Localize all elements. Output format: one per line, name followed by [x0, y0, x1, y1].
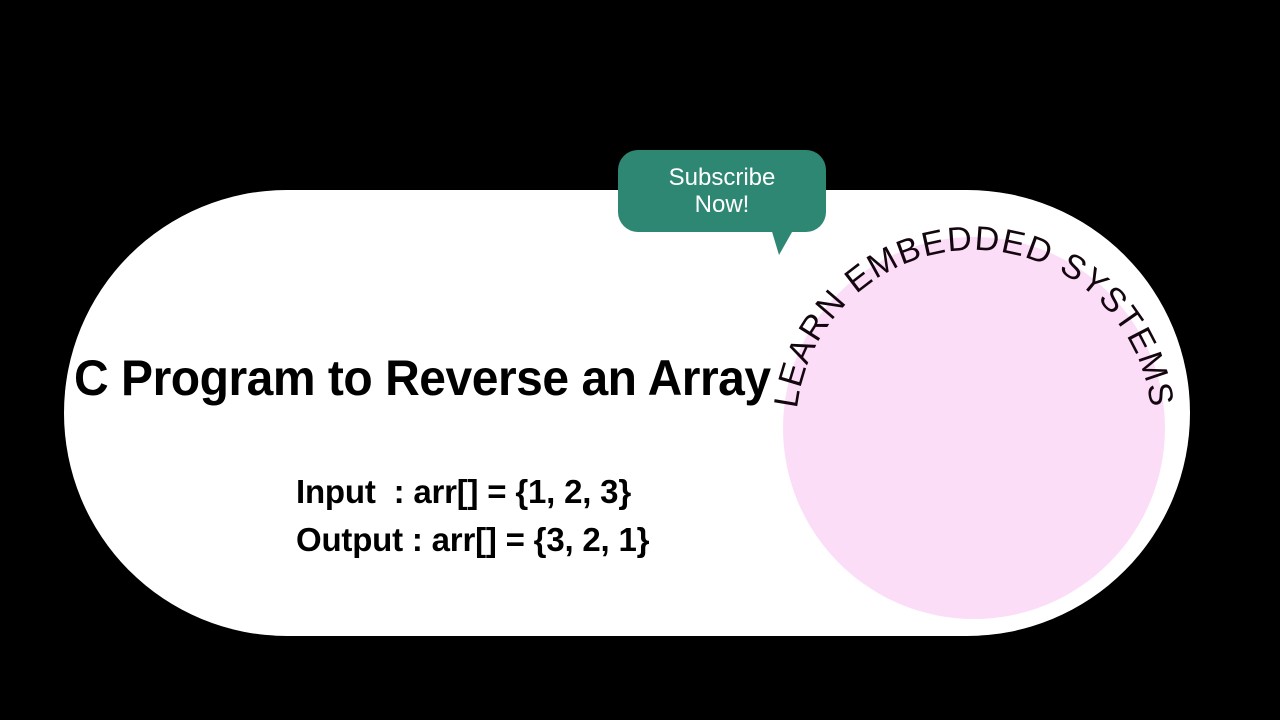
subscribe-bubble-text: Subscribe Now! [618, 150, 826, 232]
example-io-block: Input : arr[] = {1, 2, 3} Output : arr[]… [296, 468, 766, 564]
brand-badge-curved-text: LEARN EMBEDDED SYSTEMS [783, 237, 1165, 619]
subscribe-bubble[interactable]: Subscribe Now! [618, 150, 826, 232]
example-output-line: Output : arr[] = {3, 2, 1} [296, 516, 766, 564]
subscribe-line-2: Now! [695, 191, 750, 218]
slide-canvas: LEARN EMBEDDED SYSTEMS C Program to Reve… [0, 0, 1280, 720]
subscribe-line-1: Subscribe [669, 164, 776, 191]
brand-badge-label: LEARN EMBEDDED SYSTEMS [767, 220, 1181, 411]
subscribe-bubble-tail-icon [770, 225, 796, 255]
page-title: C Program to Reverse an Array [74, 349, 765, 407]
example-input-line: Input : arr[] = {1, 2, 3} [296, 468, 766, 516]
